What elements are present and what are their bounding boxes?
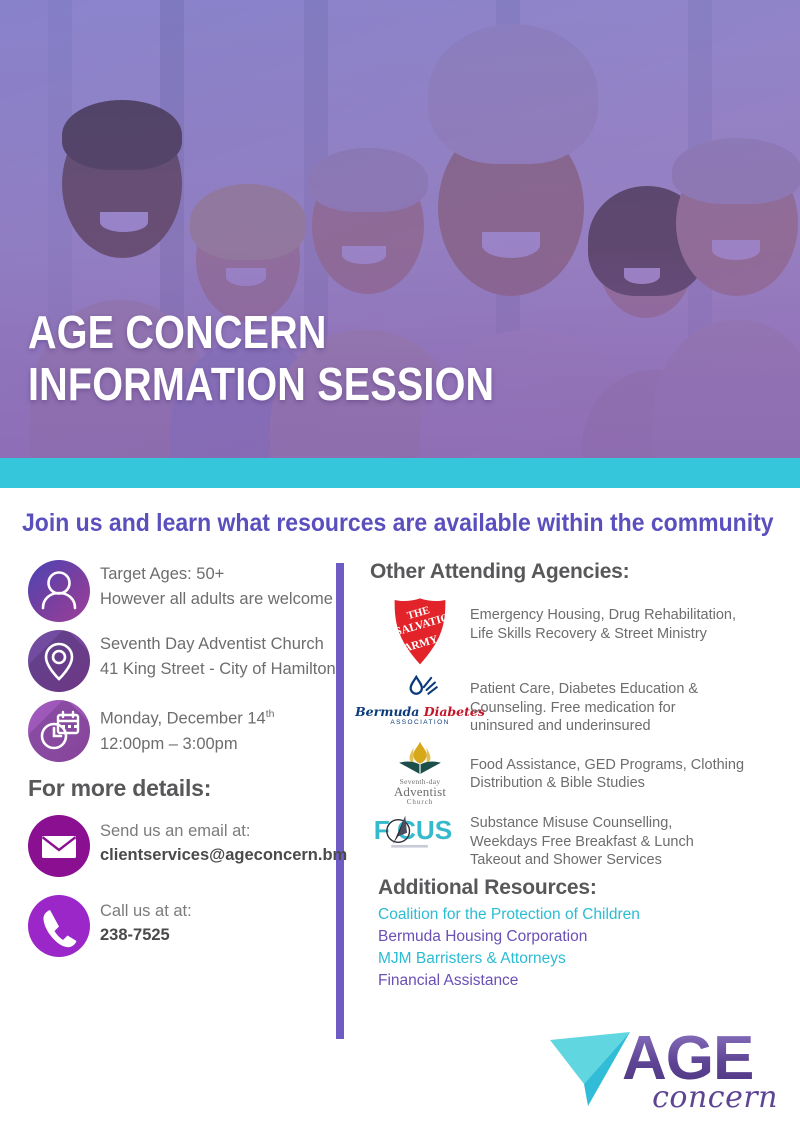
logo-word-bermuda: Bermuda bbox=[355, 704, 419, 719]
info-line-primary: Target Ages: 50+ bbox=[100, 562, 336, 587]
info-line-primary: Seventh Day Adventist Church bbox=[100, 632, 336, 657]
agency-desc-line: Emergency Housing, Drug Rehabilitation, bbox=[470, 606, 790, 625]
agency-item: Seventh-day Adventist Church Food Assist… bbox=[370, 740, 790, 807]
resource-item: Bermuda Housing Corporation bbox=[378, 926, 790, 948]
agency-item: Bermuda Diabetes ASSOCIATION Patient Car… bbox=[370, 674, 790, 736]
agency-desc-line: Counseling. Free medication for bbox=[470, 699, 790, 718]
agency-item: THE SALVATION ARMY Emergency Housing, Dr… bbox=[370, 592, 790, 670]
focus-wordmark: F CUS bbox=[374, 815, 453, 845]
right-column: Other Attending Agencies: THE SALVATION … bbox=[370, 560, 790, 992]
date-text: Monday, December 14 bbox=[100, 710, 266, 728]
agency-desc-line: Substance Misuse Counselling, bbox=[470, 814, 790, 833]
vertical-divider bbox=[336, 563, 344, 1039]
left-column: Target Ages: 50+ However all adults are … bbox=[0, 560, 336, 975]
age-concern-logo: AGE concern bbox=[544, 1022, 784, 1114]
resource-item: Financial Assistance bbox=[378, 970, 790, 992]
agency-desc-line: Takeout and Shower Services bbox=[470, 851, 790, 870]
resource-item: MJM Barristers & Attorneys bbox=[378, 948, 790, 970]
info-line-secondary: However all adults are welcome bbox=[100, 587, 336, 612]
logo-line-church: Church bbox=[394, 799, 446, 806]
agency-description: Emergency Housing, Drug Rehabilitation, … bbox=[470, 592, 790, 643]
person-icon bbox=[28, 560, 90, 622]
page-title-line-2: INFORMATION SESSION bbox=[28, 358, 494, 410]
agency-desc-line: Life Skills Recovery & Street Ministry bbox=[470, 625, 790, 644]
agency-description: Patient Care, Diabetes Education & Couns… bbox=[470, 674, 790, 736]
agency-desc-line: Weekdays Free Breakfast & Lunch bbox=[470, 833, 790, 852]
bermuda-diabetes-association-logo: Bermuda Diabetes ASSOCIATION bbox=[370, 674, 470, 726]
resources-heading: Additional Resources: bbox=[378, 876, 790, 900]
contact-row-email[interactable]: Send us an email at: clientservices@agec… bbox=[0, 815, 336, 881]
salvation-army-logo: THE SALVATION ARMY bbox=[370, 592, 470, 670]
logo-sub-association: ASSOCIATION bbox=[390, 719, 449, 726]
info-line-secondary: 41 King Street - City of Hamilton bbox=[100, 657, 336, 682]
teal-divider-bar bbox=[0, 458, 800, 488]
focus-logo: F CUS bbox=[370, 810, 470, 852]
date-ordinal-suffix: th bbox=[266, 708, 275, 720]
info-line-secondary: 12:00pm – 3:00pm bbox=[100, 732, 336, 757]
page-title: AGE CONCERN INFORMATION SESSION bbox=[28, 306, 570, 410]
location-pin-icon bbox=[28, 630, 90, 692]
phone-number[interactable]: 238-7525 bbox=[100, 923, 336, 947]
seventh-day-adventist-church-logo: Seventh-day Adventist Church bbox=[370, 740, 470, 807]
envelope-icon bbox=[28, 815, 90, 877]
subtitle: Join us and learn what resources are ava… bbox=[22, 508, 730, 538]
agency-desc-line: Patient Care, Diabetes Education & bbox=[470, 680, 790, 699]
agency-description: Substance Misuse Counselling, Weekdays F… bbox=[470, 810, 790, 870]
email-label: Send us an email at: bbox=[100, 815, 336, 843]
logo-line-adventist: Adventist bbox=[394, 785, 446, 799]
poster: AGE CONCERN INFORMATION SESSION Join us … bbox=[0, 0, 800, 1128]
info-row-venue: Seventh Day Adventist Church 41 King Str… bbox=[0, 630, 336, 682]
resource-item: Coalition for the Protection of Children bbox=[378, 904, 790, 926]
contact-row-phone[interactable]: Call us at at: 238-7525 bbox=[0, 895, 336, 961]
info-row-target-ages: Target Ages: 50+ However all adults are … bbox=[0, 560, 336, 612]
agencies-heading: Other Attending Agencies: bbox=[370, 560, 790, 584]
page-title-line-1: AGE CONCERN bbox=[28, 306, 494, 358]
agency-item: F CUS Substance Misuse Counselling, Week… bbox=[370, 810, 790, 870]
phone-icon bbox=[28, 895, 90, 957]
agency-description: Food Assistance, GED Programs, Clothing … bbox=[470, 740, 790, 793]
agency-desc-line: uninsured and underinsured bbox=[470, 717, 790, 736]
agency-desc-line: Distribution & Bible Studies bbox=[470, 774, 790, 793]
info-line-primary: Monday, December 14th bbox=[100, 702, 336, 732]
info-row-datetime: Monday, December 14th 12:00pm – 3:00pm bbox=[0, 700, 336, 757]
calendar-clock-icon bbox=[28, 700, 90, 762]
agency-desc-line: Food Assistance, GED Programs, Clothing bbox=[470, 756, 790, 775]
hero-banner: AGE CONCERN INFORMATION SESSION bbox=[0, 0, 800, 458]
details-heading: For more details: bbox=[28, 775, 336, 801]
phone-label: Call us at at: bbox=[100, 895, 336, 923]
email-address[interactable]: clientservices@ageconcern.bm bbox=[100, 843, 336, 867]
brand-tagline: concern bbox=[652, 1080, 778, 1115]
